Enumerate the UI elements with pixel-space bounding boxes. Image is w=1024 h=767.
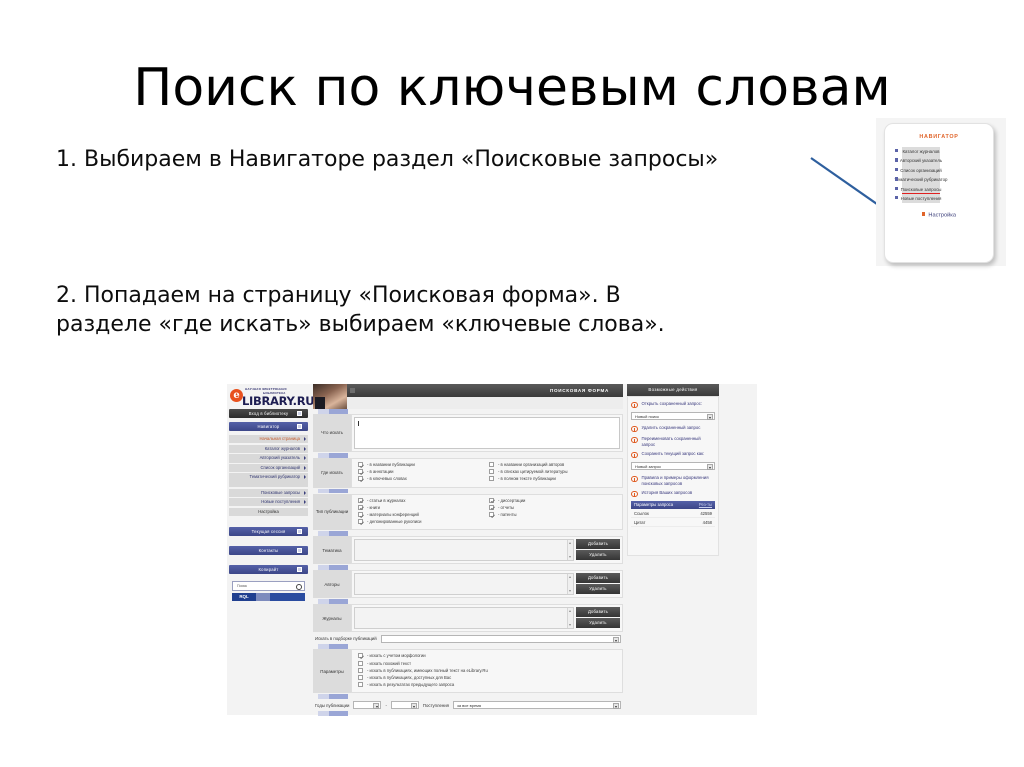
- checkbox-icon[interactable]: [358, 653, 363, 658]
- navigator-item-search-queries[interactable]: Поисковые запросы: [895, 185, 993, 194]
- navigator-header-label: Навигатор: [258, 424, 280, 429]
- action-rename-saved-query[interactable]: Переименовать сохраненный запрос: [631, 436, 715, 447]
- scroll-up-icon: [569, 576, 571, 578]
- row-tab: [313, 489, 623, 494]
- checkbox-icon[interactable]: [489, 462, 494, 467]
- where-to-search-body: - в названии публикации - в аннотации - …: [351, 458, 623, 488]
- expand-box-icon: [297, 424, 302, 429]
- topic-label: Тематика: [313, 536, 351, 564]
- where-options-right: - в названии организаций авторов - в спи…: [489, 462, 620, 484]
- checkbox-icon[interactable]: [358, 512, 363, 517]
- checkbox-row[interactable]: - в аннотации: [358, 469, 489, 474]
- action-bullet-icon: [631, 402, 638, 409]
- topic-body: Добавить Удалить: [351, 536, 623, 564]
- what-to-search-input[interactable]: [354, 417, 620, 449]
- sidebar-item-label: Каталог журналов: [265, 446, 300, 451]
- chevron-down-icon[interactable]: [613, 637, 619, 643]
- publication-type-body: - статьи в журналах - книги - материалы …: [351, 494, 623, 531]
- login-button[interactable]: Вход в библиотеку: [229, 409, 308, 418]
- row-tab-marker: [318, 599, 348, 604]
- action-label: Сохранить текущий запрос как:: [642, 451, 705, 458]
- arrival-label: Поступления: [423, 703, 449, 708]
- years-dash: -: [385, 703, 386, 708]
- publication-type-row: Тип публикации - статьи в журналах - кни…: [313, 489, 623, 531]
- sidebar-menu: Начальная страница Каталог журналов Авто…: [229, 435, 308, 516]
- checkbox-icon[interactable]: [358, 661, 363, 666]
- checkbox-label: - депонированные рукописи: [367, 519, 422, 524]
- checkbox-label: - отчеты: [498, 505, 514, 510]
- chevron-right-icon: [304, 437, 306, 441]
- journals-listbox[interactable]: [354, 607, 574, 629]
- checkbox-icon[interactable]: [358, 469, 363, 474]
- scroll-down-icon: [569, 556, 571, 558]
- expand-box-icon: [297, 567, 302, 572]
- bullet-square-icon: [895, 187, 898, 190]
- checkbox-row[interactable]: - материалы конференций: [358, 512, 489, 517]
- topic-listbox[interactable]: [354, 539, 574, 561]
- open-query-value: Новый поиск: [635, 414, 659, 419]
- chevron-right-icon: [304, 466, 306, 470]
- checkbox-icon[interactable]: [489, 505, 494, 510]
- chevron-down-icon[interactable]: [613, 703, 619, 709]
- sidebar-item-label: Авторский указатель: [260, 455, 300, 460]
- parameters-row: Параметры - искать с учетом морфологии -…: [313, 644, 623, 693]
- scroll-up-icon: [569, 610, 571, 612]
- checkbox-label: - в названии публикации: [367, 462, 415, 467]
- authors-label: Авторы: [313, 570, 351, 598]
- checkbox-row[interactable]: - статьи в журналах: [358, 498, 489, 503]
- text-caret: [358, 421, 359, 426]
- elibrary-page: e НАУЧНАЯ ЭЛЕКТРОННАЯ БИБЛИОТЕКА LIBRARY…: [227, 384, 757, 715]
- sidebar-item-rubricator[interactable]: Тематический рубрикатор: [229, 473, 308, 487]
- action-open-saved-query[interactable]: Открыть сохраненный запрос:: [631, 401, 715, 408]
- copyright-block[interactable]: Копирайт: [229, 565, 308, 574]
- checkbox-row[interactable]: - книги: [358, 505, 489, 510]
- sidebar-item-catalog[interactable]: Каталог журналов: [229, 445, 308, 453]
- action-label: Удалить сохраненный запрос: [642, 425, 701, 432]
- expand-box-icon: [297, 529, 302, 534]
- checkbox-label: - в аннотации: [367, 469, 393, 474]
- checkbox-row[interactable]: - искать в результатах предыдущего запро…: [358, 682, 620, 687]
- row-tab-marker: [318, 565, 348, 570]
- checkbox-row[interactable]: - искать в публикациях, имеющих полный т…: [358, 668, 620, 673]
- checkbox-label: - в ключевых словах: [367, 476, 407, 481]
- action-bullet-icon: [631, 437, 638, 444]
- checkbox-row[interactable]: - искать похожий текст: [358, 661, 620, 666]
- years-controls: Годы публикации - Поступления за все вре…: [313, 699, 623, 711]
- navigator-item-organizations[interactable]: Список организаций: [895, 166, 993, 175]
- checkbox-row[interactable]: - патенты: [489, 512, 620, 517]
- stats-row: Ссылок 42559: [631, 509, 715, 518]
- navigator-item-label: Каталог журналов: [902, 147, 940, 156]
- chevron-right-icon: [304, 447, 306, 451]
- navigator-settings-label: Настройка: [928, 213, 956, 219]
- arrival-select[interactable]: за все время: [453, 701, 621, 709]
- expand-box-icon: [297, 411, 302, 416]
- copyright-label: Копирайт: [259, 567, 279, 572]
- stats-row-value: 4458: [703, 520, 712, 525]
- action-label: История Ваших запросов: [642, 490, 693, 497]
- checkbox-icon[interactable]: [489, 469, 494, 474]
- checkbox-icon[interactable]: [358, 462, 363, 467]
- navigator-card-panel: НАВИГАТОР Каталог журналов Авторский ука…: [884, 123, 994, 263]
- checkbox-icon[interactable]: [489, 498, 494, 503]
- row-tab-marker: [318, 694, 348, 699]
- checkbox-icon[interactable]: [358, 498, 363, 503]
- checkbox-label: - материалы конференций: [367, 512, 419, 517]
- type-options-right: - диссертации - отчеты - патенты: [489, 498, 620, 527]
- authors-listbox[interactable]: [354, 573, 574, 595]
- navigator-item-new-arrivals[interactable]: Новые поступления: [895, 194, 993, 203]
- authors-remove-button[interactable]: Удалить: [576, 584, 620, 594]
- checkbox-label: - искать с учетом морфологии: [367, 653, 426, 658]
- sidebar-search-input[interactable]: Поиск: [232, 581, 305, 591]
- journals-buttons: Добавить Удалить: [576, 605, 622, 631]
- row-tab: [313, 565, 623, 570]
- topic-row: Тематика Добавить Удалить: [313, 531, 623, 564]
- row-tab: [313, 711, 623, 716]
- collection-row: Искать в подборке публикаций: [313, 633, 623, 644]
- contacts-block[interactable]: Контакты: [229, 546, 308, 555]
- bullet-step-2: 2. Попадаем на страницу «Поисковая форма…: [56, 281, 676, 339]
- expand-box-icon: [297, 548, 302, 553]
- bullet-square-icon: [895, 177, 898, 180]
- contacts-label: Контакты: [259, 548, 279, 553]
- chevron-right-icon: [304, 500, 306, 504]
- row-tab-marker: [318, 409, 348, 414]
- where-to-search-row: Где искать - в названии публикации - в а…: [313, 453, 623, 488]
- journals-remove-button[interactable]: Удалить: [576, 618, 620, 628]
- authors-buttons: Добавить Удалить: [576, 571, 622, 597]
- navigator-item-label: Поисковые запросы: [902, 185, 940, 194]
- rating-counter-label: RQL: [232, 593, 256, 601]
- logo-name: LIBRARY.RU: [242, 394, 314, 408]
- what-to-search-label: Что искать: [313, 414, 351, 452]
- save-query-select[interactable]: Новый запрос: [631, 462, 715, 470]
- checkbox-label: - искать в публикациях, имеющих полный т…: [367, 668, 488, 673]
- elibrary-screenshot: e НАУЧНАЯ ЭЛЕКТРОННАЯ БИБЛИОТЕКА LIBRARY…: [216, 375, 768, 723]
- topic-remove-button[interactable]: Удалить: [576, 550, 620, 560]
- navigator-card: НАВИГАТОР Каталог журналов Авторский ука…: [876, 118, 1006, 266]
- journals-row: Журналы Добавить Удалить: [313, 599, 623, 632]
- rating-counter-value: [270, 593, 305, 601]
- row-tab: [313, 531, 623, 536]
- stats-row-label: Ссылок: [634, 511, 649, 516]
- chevron-right-icon: [304, 456, 306, 460]
- row-tab: [313, 409, 623, 414]
- scroll-down-icon: [569, 590, 571, 592]
- stats-header-left: Параметры запроса: [634, 501, 673, 509]
- bullet-square-icon: [895, 168, 898, 171]
- navigator-item-label: Авторский указатель: [902, 156, 940, 165]
- action-label: Открыть сохраненный запрос:: [642, 401, 703, 408]
- sidebar-item-search-queries[interactable]: Поисковые запросы: [229, 489, 308, 497]
- slide: Поиск по ключевым словам 1. Выбираем в Н…: [0, 0, 1024, 767]
- checkbox-icon[interactable]: [358, 476, 363, 481]
- page-header-label: ПОИСКОВАЯ ФОРМА: [550, 388, 609, 393]
- navigator-item-rubricator[interactable]: Тематический рубрикатор: [895, 175, 993, 184]
- login-button-label: Вход в библиотеку: [249, 411, 289, 416]
- row-tab: [313, 599, 623, 604]
- row-tab: [313, 644, 623, 649]
- row-tab-marker: [318, 644, 348, 649]
- current-session-block[interactable]: Текущая сессия: [229, 527, 308, 536]
- chevron-right-icon: [304, 475, 306, 479]
- collection-select[interactable]: [381, 635, 621, 643]
- row-tab-marker: [318, 453, 348, 458]
- bullet-step-1: 1. Выбираем в Навигаторе раздел «Поисков…: [56, 145, 846, 174]
- row-tab: [313, 694, 623, 699]
- sidebar-item-label: Тематический рубрикатор: [250, 474, 300, 479]
- chevron-right-icon: [304, 491, 306, 495]
- navigator-settings-link[interactable]: Настройка: [885, 212, 993, 218]
- sidebar-item-label: Список организаций: [261, 465, 301, 470]
- checkbox-icon[interactable]: [358, 668, 363, 673]
- sidebar-search-value: Поиск: [237, 584, 247, 588]
- checkbox-label: - в полном тексте публикации: [498, 476, 556, 481]
- publication-type-label: Тип публикации: [313, 494, 351, 531]
- topic-buttons: Добавить Удалить: [576, 537, 622, 563]
- checkbox-icon[interactable]: [358, 682, 363, 687]
- checkbox-label: - в названии организаций авторов: [498, 462, 564, 467]
- authors-body: Добавить Удалить: [351, 570, 623, 598]
- checkbox-label: - искать в публикациях, доступных для Ва…: [367, 675, 451, 680]
- checkbox-row[interactable]: - искать в публикациях, доступных для Ва…: [358, 675, 620, 680]
- where-options-left: - в названии публикации - в аннотации - …: [358, 462, 489, 484]
- checkbox-icon[interactable]: [489, 476, 494, 481]
- rating-counter[interactable]: RQL: [232, 593, 305, 601]
- actions-header: Возможные действия: [627, 384, 719, 396]
- authors-row: Авторы Добавить Удалить: [313, 565, 623, 598]
- chevron-down-icon[interactable]: [373, 703, 379, 709]
- checkbox-row[interactable]: - в названии организаций авторов: [489, 462, 620, 467]
- navigator-item-label: Список организаций: [902, 166, 940, 175]
- navigator-card-list: Каталог журналов Авторский указатель Спи…: [885, 147, 993, 203]
- parameters-body: - искать с учетом морфологии - искать по…: [351, 649, 623, 693]
- checkbox-label: - книги: [367, 505, 380, 510]
- header-dot-icon: [350, 388, 355, 393]
- sidebar-item-authors[interactable]: Авторский указатель: [229, 454, 308, 462]
- checkbox-icon[interactable]: [358, 505, 363, 510]
- what-to-search-body: [351, 414, 623, 452]
- rating-counter-bar: [256, 593, 270, 601]
- checkbox-row-keywords[interactable]: - в ключевых словах: [358, 476, 489, 481]
- checkbox-row[interactable]: - искать с учетом морфологии: [358, 653, 620, 658]
- chevron-down-icon[interactable]: [411, 703, 417, 709]
- navigator-item-authors[interactable]: Авторский указатель: [895, 156, 993, 165]
- left-sidebar: e НАУЧНАЯ ЭЛЕКТРОННАЯ БИБЛИОТЕКА LIBRARY…: [227, 384, 310, 601]
- checkbox-row[interactable]: - депонированные рукописи: [358, 519, 489, 524]
- page-header-title: ПОИСКОВАЯ ФОРМА: [347, 384, 623, 397]
- action-bullet-icon: [631, 491, 638, 498]
- search-form: ПОИСКОВАЯ ФОРМА Что искать: [313, 384, 623, 717]
- navigator-item-catalog[interactable]: Каталог журналов: [895, 147, 993, 156]
- elibrary-logo: e НАУЧНАЯ ЭЛЕКТРОННАЯ БИБЛИОТЕКА LIBRARY…: [227, 384, 310, 409]
- bullet-square-icon: [895, 196, 898, 199]
- action-bullet-icon: [631, 426, 638, 433]
- chevron-down-icon[interactable]: [707, 414, 713, 420]
- search-icon[interactable]: [296, 584, 302, 590]
- navigator-card-title: НАВИГАТОР: [885, 134, 993, 140]
- action-save-current-query[interactable]: Сохранить текущий запрос как:: [631, 451, 715, 458]
- what-to-search-row: Что искать: [313, 409, 623, 452]
- actions-body: Открыть сохраненный запрос: Новый поиск …: [627, 396, 719, 556]
- parameters-label: Параметры: [313, 649, 351, 693]
- where-to-search-label: Где искать: [313, 458, 351, 488]
- current-session-label: Текущая сессия: [252, 529, 286, 534]
- stats-header-right[interactable]: Рез-ты: [699, 501, 712, 509]
- scrollbar: [567, 608, 573, 628]
- authors-add-button[interactable]: Добавить: [576, 573, 620, 583]
- years-label: Годы публикации: [315, 703, 349, 708]
- scrollbar: [567, 574, 573, 594]
- checkbox-label: - статьи в журналах: [367, 498, 405, 503]
- stats-row-label: Цитат: [634, 520, 645, 525]
- action-rules-and-examples[interactable]: Правила и примеры оформления поисковых з…: [631, 475, 715, 486]
- journals-body: Добавить Удалить: [351, 604, 623, 632]
- checkbox-row[interactable]: - в списках цитируемой литературы: [489, 469, 620, 474]
- bullet-square-icon: [895, 158, 898, 161]
- open-query-select[interactable]: Новый поиск: [631, 412, 715, 420]
- action-bullet-icon: [631, 452, 638, 459]
- action-label: Переименовать сохраненный запрос: [642, 436, 716, 447]
- sidebar-item-organizations[interactable]: Список организаций: [229, 464, 308, 472]
- checkbox-icon[interactable]: [358, 675, 363, 680]
- scrollbar: [567, 540, 573, 560]
- checkbox-row[interactable]: - в названии публикации: [358, 462, 489, 467]
- sidebar-item-label: Поисковые запросы: [261, 490, 300, 495]
- scroll-up-icon: [569, 542, 571, 544]
- navigator-header[interactable]: Навигатор: [229, 422, 308, 431]
- checkbox-label: - искать в результатах предыдущего запро…: [367, 682, 454, 687]
- journals-add-button[interactable]: Добавить: [576, 607, 620, 617]
- arrival-value: за все время: [457, 703, 481, 708]
- page-header: ПОИСКОВАЯ ФОРМА: [313, 384, 623, 397]
- years-row: Годы публикации - Поступления за все вре…: [313, 694, 623, 716]
- checkbox-icon[interactable]: [489, 512, 494, 517]
- year-to-select[interactable]: [391, 701, 419, 709]
- sidebar-item-label: Начальная страница: [259, 436, 300, 441]
- page-title: Поиск по ключевым словам: [0, 58, 1024, 118]
- save-query-value: Новый запрос: [635, 464, 661, 469]
- checkbox-label: - патенты: [498, 512, 517, 517]
- checkbox-label: - в списках цитируемой литературы: [498, 469, 568, 474]
- collection-label: Искать в подборке публикаций: [315, 636, 377, 641]
- sidebar-item-home[interactable]: Начальная страница: [229, 435, 308, 443]
- year-from-select[interactable]: [353, 701, 381, 709]
- checkbox-row[interactable]: - в полном тексте публикации: [489, 476, 620, 481]
- stats-row-value: 42559: [700, 511, 712, 516]
- row-tab-marker: [318, 711, 348, 716]
- settings-square-icon: [922, 212, 925, 215]
- checkbox-label: - искать похожий текст: [367, 661, 411, 666]
- sidebar-item-label: Новые поступления: [261, 499, 300, 504]
- header-strip: [347, 397, 623, 409]
- sidebar-item-new-arrivals[interactable]: Новые поступления: [229, 498, 308, 506]
- header-photo: [313, 384, 347, 409]
- stats-row: Цитат 4458: [631, 518, 715, 527]
- navigator-item-label: Тематический рубрикатор: [902, 175, 940, 184]
- row-tab-marker: [318, 531, 348, 536]
- row-tab: [313, 453, 623, 458]
- row-tab-marker: [318, 489, 348, 494]
- scroll-down-icon: [569, 624, 571, 626]
- type-options-left: - статьи в журналах - книги - материалы …: [358, 498, 489, 527]
- checkbox-row[interactable]: - диссертации: [489, 498, 620, 503]
- checkbox-label: - диссертации: [498, 498, 525, 503]
- checkbox-icon[interactable]: [358, 519, 363, 524]
- action-label: Правила и примеры оформления поисковых з…: [642, 475, 716, 486]
- navigator-item-label: Новые поступления: [902, 194, 940, 203]
- actions-panel: Возможные действия Открыть сохраненный з…: [627, 384, 719, 556]
- stats-header: Параметры запроса Рез-ты: [631, 501, 715, 509]
- journals-label: Журналы: [313, 604, 351, 632]
- topic-add-button[interactable]: Добавить: [576, 539, 620, 549]
- sidebar-item-settings[interactable]: Настройка: [229, 508, 308, 516]
- action-bullet-icon: [631, 476, 638, 483]
- chevron-down-icon[interactable]: [707, 464, 713, 470]
- action-query-history[interactable]: История Ваших запросов: [631, 490, 715, 497]
- checkbox-row[interactable]: - отчеты: [489, 505, 620, 510]
- action-delete-saved-query[interactable]: Удалить сохраненный запрос: [631, 425, 715, 432]
- bullet-square-icon: [895, 149, 898, 152]
